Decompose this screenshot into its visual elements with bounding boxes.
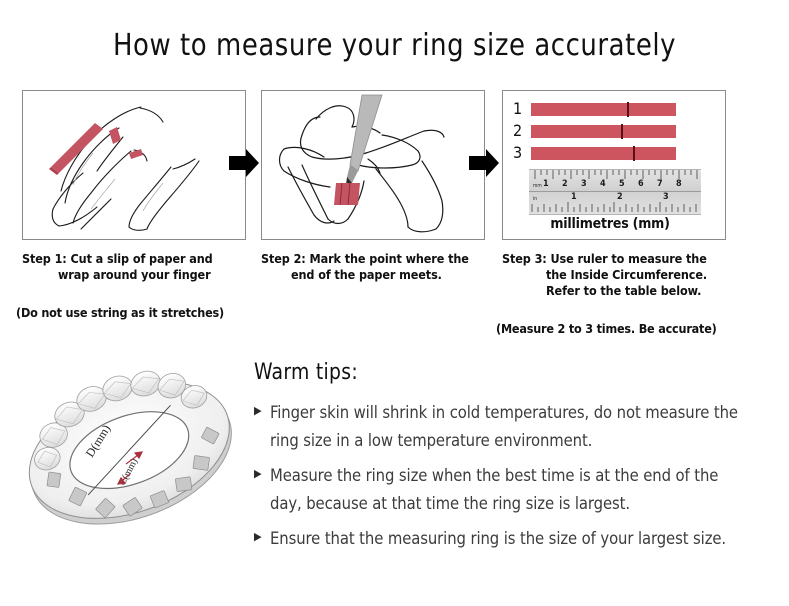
ruler-metric-tick-7: 7	[657, 180, 663, 189]
arrow-step2-to-step3	[469, 146, 499, 180]
step-1-line-2: wrap around your finger	[22, 267, 248, 283]
strip-number: 2	[513, 123, 531, 139]
paper-band-red	[334, 183, 360, 205]
step-1-note: (Do not use string as it stretches)	[16, 305, 248, 320]
step-2-line-1: Mark the point where the	[310, 251, 469, 266]
hand-marking-paper-icon	[262, 91, 485, 240]
ruler-metric-tick-1: 1	[543, 180, 549, 189]
ruler-metric-unit: mm	[533, 182, 542, 191]
step-2-label: Step 2:	[261, 251, 306, 266]
step-2-line-2: end of the paper meets.	[261, 267, 487, 283]
bullet-triangle-icon: ▶	[254, 399, 270, 416]
step-2-column: Step 2: Mark the point where the end of …	[261, 90, 487, 283]
strip-row: 3	[513, 145, 717, 161]
ruler-icon: mm 1 2 3 4 5 6 7 8 in 1 2 3	[529, 169, 701, 215]
step-3-line-2-suffix: .	[703, 267, 707, 282]
strip-bar	[531, 103, 676, 116]
strip-number: 1	[513, 101, 531, 117]
strip-mark	[627, 102, 629, 117]
pen-icon	[346, 95, 382, 189]
step-3-inside-circumference: Inside Circumference	[571, 267, 703, 282]
step-3-panel: 1 2 3	[502, 90, 726, 240]
step-3-label: Step 3:	[502, 251, 547, 266]
ring-diagram: D(mm) C(mm)	[14, 352, 246, 552]
ruler-metric-tick-3: 3	[581, 180, 587, 189]
strip-mark	[621, 124, 623, 139]
arrow-step1-to-step2	[229, 146, 259, 180]
page-title: How to measure your ring size accurately	[16, 28, 773, 63]
strip-mark	[633, 146, 635, 161]
ruler-metric-tick-2: 2	[562, 180, 568, 189]
ruler-metric-tick-5: 5	[619, 180, 625, 189]
step-3-line-1: Use ruler to measure the	[551, 251, 707, 266]
tip-item: ▶ Finger skin will shrink in cold temper…	[254, 399, 774, 455]
tip-text: Finger skin will shrink in cold temperat…	[270, 399, 740, 455]
bullet-triangle-icon: ▶	[254, 462, 270, 479]
strip-bar	[531, 125, 676, 138]
ruler-unit-label: millimetres (mm)	[503, 216, 717, 232]
step-1-line-1: Cut a slip of paper and	[71, 251, 213, 266]
step-3-caption: Step 3: Use ruler to measure the the Ins…	[502, 251, 728, 299]
ruler-metric-tick-4: 4	[600, 180, 606, 189]
step-1-column: Step 1: Cut a slip of paper and wrap aro…	[22, 90, 248, 320]
measured-strips-group: 1 2 3	[513, 101, 717, 167]
strip-row: 1	[513, 101, 717, 117]
right-arrow-icon	[229, 146, 259, 180]
steps-row: Step 1: Cut a slip of paper and wrap aro…	[0, 90, 789, 340]
step-3-line-3: Refer to the table below.	[502, 283, 728, 299]
step-3-column: 1 2 3	[502, 90, 728, 336]
hand-with-paper-strip-icon	[23, 91, 246, 240]
tip-text: Measure the ring size when the best time…	[270, 462, 740, 518]
ruler-metric-tick-6: 6	[638, 180, 644, 189]
ruler-imperial-scale: in 1 2 3	[529, 192, 701, 214]
step-2-caption: Step 2: Mark the point where the end of …	[261, 251, 487, 283]
step-1-caption: Step 1: Cut a slip of paper and wrap aro…	[22, 251, 248, 283]
warm-tips-section: Warm tips: ▶ Finger skin will shrink in …	[254, 360, 774, 560]
ruler-imperial-ticks	[529, 192, 701, 214]
tip-item: ▶ Ensure that the measuring ring is the …	[254, 525, 774, 553]
bullet-triangle-icon: ▶	[254, 525, 270, 542]
ruler-metric-tick-8: 8	[676, 180, 682, 189]
tip-text: Ensure that the measuring ring is the si…	[270, 525, 726, 553]
strip-bar	[531, 147, 676, 160]
right-arrow-icon	[469, 146, 499, 180]
tip-item: ▶ Measure the ring size when the best ti…	[254, 462, 774, 518]
step-3-note: (Measure 2 to 3 times. Be accurate)	[496, 321, 728, 336]
paper-strip-red	[49, 123, 103, 175]
ruler-metric-scale: mm 1 2 3 4 5 6 7 8	[529, 170, 701, 192]
step-2-panel	[261, 90, 485, 240]
step-1-panel	[22, 90, 246, 240]
warm-tips-heading: Warm tips:	[254, 360, 748, 385]
diamond-eternity-ring-icon: D(mm) C(mm)	[14, 352, 246, 552]
step-1-label: Step 1:	[22, 251, 67, 266]
strip-number: 3	[513, 145, 531, 161]
strip-row: 2	[513, 123, 717, 139]
step-3-line-2-prefix: the	[546, 267, 571, 282]
